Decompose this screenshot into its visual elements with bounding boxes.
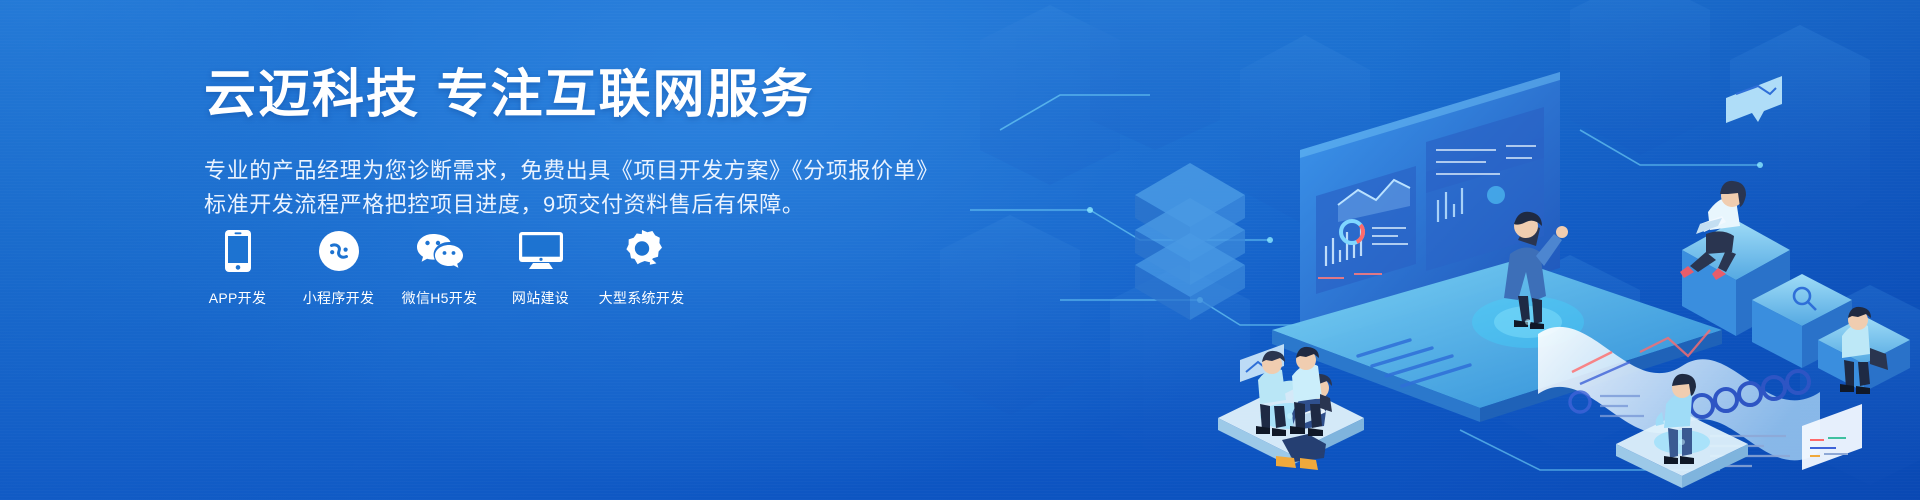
service-item-website[interactable]: 网站建设 (503, 228, 578, 306)
service-label: APP开发 (209, 290, 267, 306)
subtitle-line-1: 专业的产品经理为您诊断需求，免费出具《项目开发方案》《分项报价单》 (204, 154, 924, 188)
service-label: 微信H5开发 (402, 290, 478, 306)
mobile-phone-icon (225, 228, 251, 274)
service-label: 大型系统开发 (599, 290, 685, 306)
isometric-illustration (940, 0, 1920, 500)
wechat-icon (416, 228, 464, 274)
service-list: APP开发 小程序开发 (200, 228, 679, 306)
service-item-large-system[interactable]: 大型系统开发 (604, 228, 679, 306)
service-label: 网站建设 (512, 290, 569, 306)
service-item-miniprogram[interactable]: 小程序开发 (301, 228, 376, 306)
monitor-icon (519, 228, 563, 274)
subtitle-line-2: 标准开发流程严格把控项目进度，9项交付资料售后有保障。 (204, 188, 924, 222)
mini-program-icon (319, 228, 359, 274)
service-item-app[interactable]: APP开发 (200, 228, 275, 306)
gear-icon (621, 228, 663, 274)
banner-copy: 云迈科技 专注互联网服务 专业的产品经理为您诊断需求，免费出具《项目开发方案》《… (204, 62, 924, 222)
banner-subtitle: 专业的产品经理为您诊断需求，免费出具《项目开发方案》《分项报价单》 标准开发流程… (204, 154, 924, 222)
hero-banner: 云迈科技 专注互联网服务 专业的产品经理为您诊断需求，免费出具《项目开发方案》《… (0, 0, 1920, 500)
service-label: 小程序开发 (303, 290, 375, 306)
page-title: 云迈科技 专注互联网服务 (204, 62, 924, 128)
service-item-wechat-h5[interactable]: 微信H5开发 (402, 228, 477, 306)
